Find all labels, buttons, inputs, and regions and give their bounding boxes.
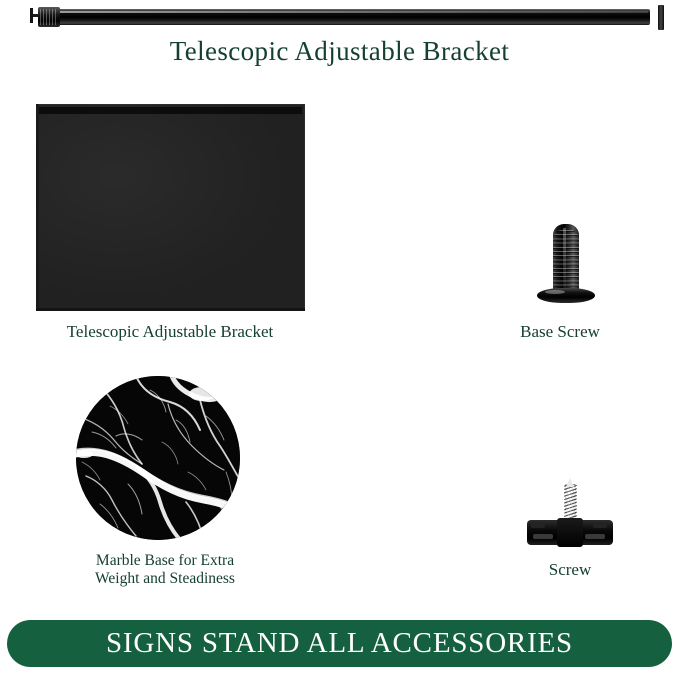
marble-base-photo: [76, 376, 240, 540]
marble-veining: [76, 376, 240, 540]
thumb-screw-gloss-right: [585, 534, 605, 539]
caption-marble-base: Marble Base for Extra Weight and Steadin…: [55, 552, 275, 588]
bracket-left-edge: [36, 104, 39, 311]
bracket-panel-photo: [36, 104, 305, 311]
thumb-screw-tip: [566, 478, 574, 487]
thumb-screw-photo: [527, 478, 613, 548]
base-screw-flange-gloss: [545, 290, 565, 294]
base-screw-threads: [553, 230, 579, 290]
rod-knob-ridges: [40, 9, 58, 25]
rod-end-pin-head: [30, 8, 33, 23]
rod-end-cap-right: [658, 5, 664, 30]
bracket-bottom-edge: [36, 308, 305, 311]
thumb-screw-notch-right: [593, 522, 607, 528]
base-screw-photo: [536, 224, 596, 308]
caption-marble-line2: Weight and Steadiness: [55, 570, 275, 588]
thumb-screw-gloss-left: [533, 534, 553, 539]
bracket-sheen: [36, 104, 305, 311]
base-screw-highlight: [563, 228, 566, 291]
caption-base-screw: Base Screw: [450, 322, 670, 341]
product-infographic: Telescopic Adjustable Bracket Telescopic…: [0, 0, 679, 679]
page-title: Telescopic Adjustable Bracket: [0, 36, 679, 67]
bracket-top-edge: [39, 107, 302, 114]
thumb-screw-notch-left: [531, 522, 545, 528]
caption-screw: Screw: [460, 560, 679, 579]
caption-bracket: Telescopic Adjustable Bracket: [10, 322, 330, 341]
telescopic-rod-icon: [30, 3, 664, 31]
banner-text: SIGNS STAND ALL ACCESSORIES: [106, 627, 573, 660]
rod-highlight: [46, 11, 648, 13]
caption-marble-line1: Marble Base for Extra: [55, 552, 275, 570]
bottom-banner: SIGNS STAND ALL ACCESSORIES: [7, 620, 672, 667]
thumb-screw-handle-center: [557, 518, 583, 547]
